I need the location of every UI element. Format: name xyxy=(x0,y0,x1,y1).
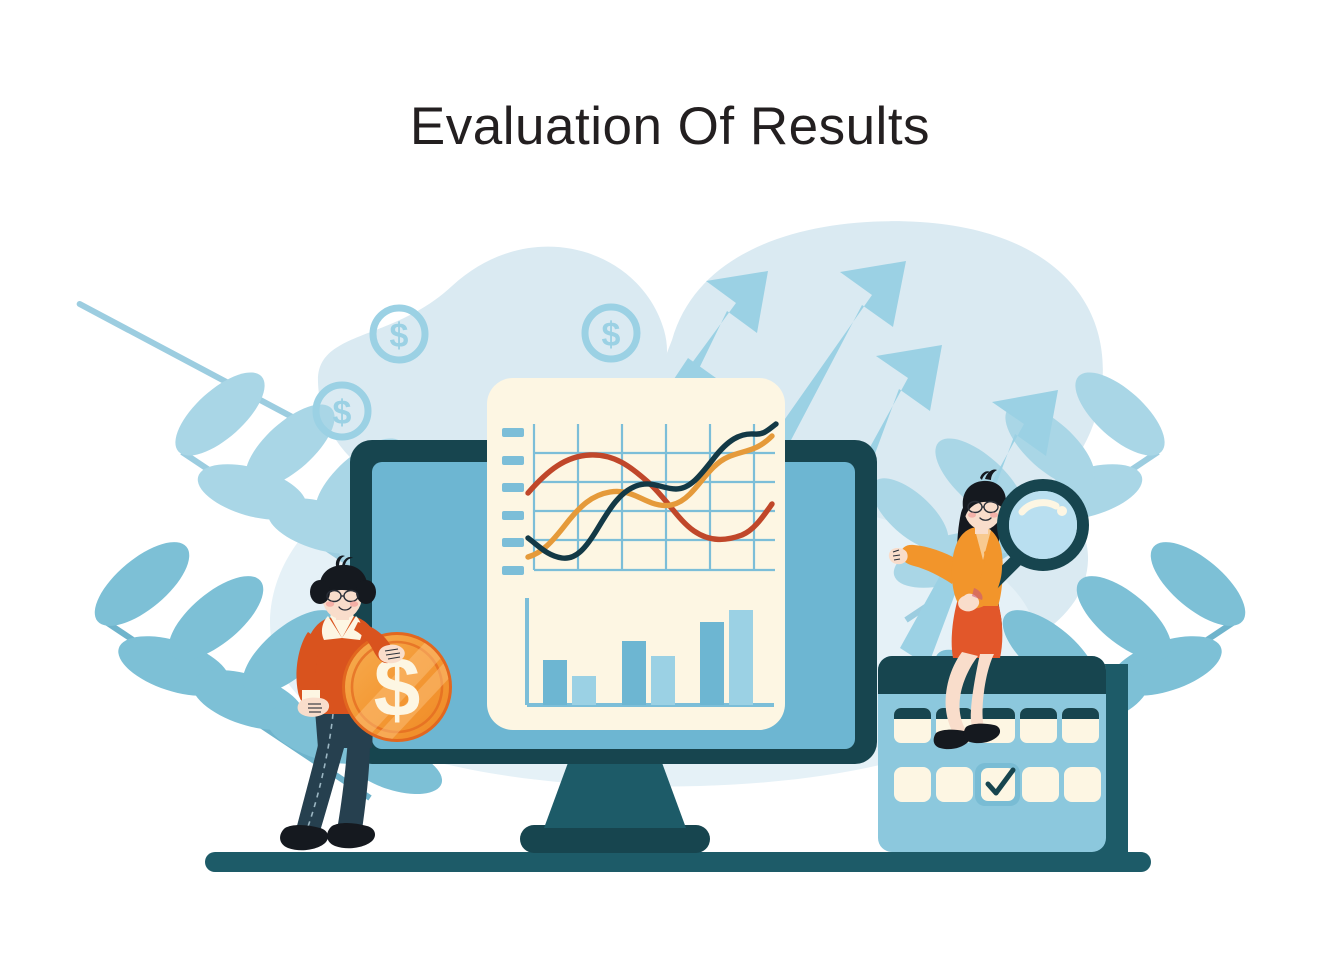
calendar-row-2 xyxy=(894,763,1101,806)
bar xyxy=(572,676,596,705)
shoe xyxy=(280,825,328,850)
shoe xyxy=(327,823,375,848)
calendar-cell[interactable] xyxy=(894,708,931,743)
illustration-stage: Evaluation Of Results xyxy=(0,0,1340,980)
bar xyxy=(622,641,646,705)
calendar-cell[interactable] xyxy=(1062,708,1099,743)
desk-calendar xyxy=(878,656,1128,852)
svg-text:$: $ xyxy=(333,394,352,432)
calendar-cell-checked[interactable] xyxy=(975,763,1020,806)
calendar-cell[interactable] xyxy=(936,767,973,802)
calendar-header-band xyxy=(878,656,1106,694)
svg-text:$: $ xyxy=(602,316,621,354)
calendar-cell[interactable] xyxy=(1022,767,1059,802)
calendar-cell[interactable] xyxy=(1020,708,1057,743)
hair-bun-right xyxy=(356,580,376,604)
monitor-stand-base xyxy=(520,825,710,853)
calendar-cell[interactable] xyxy=(894,767,931,802)
ground-bar xyxy=(205,852,1151,872)
calendar-cell[interactable] xyxy=(1064,767,1101,802)
monitor-stand-neck xyxy=(544,760,686,828)
bar xyxy=(543,660,567,705)
evaluation-of-results-illustration: $ $ $ xyxy=(0,0,1340,980)
bar xyxy=(729,610,753,705)
hair-bun-left xyxy=(310,580,330,604)
calendar-row-1 xyxy=(894,708,1099,743)
bar xyxy=(700,622,724,705)
bar xyxy=(651,656,675,705)
svg-text:$: $ xyxy=(390,317,409,355)
